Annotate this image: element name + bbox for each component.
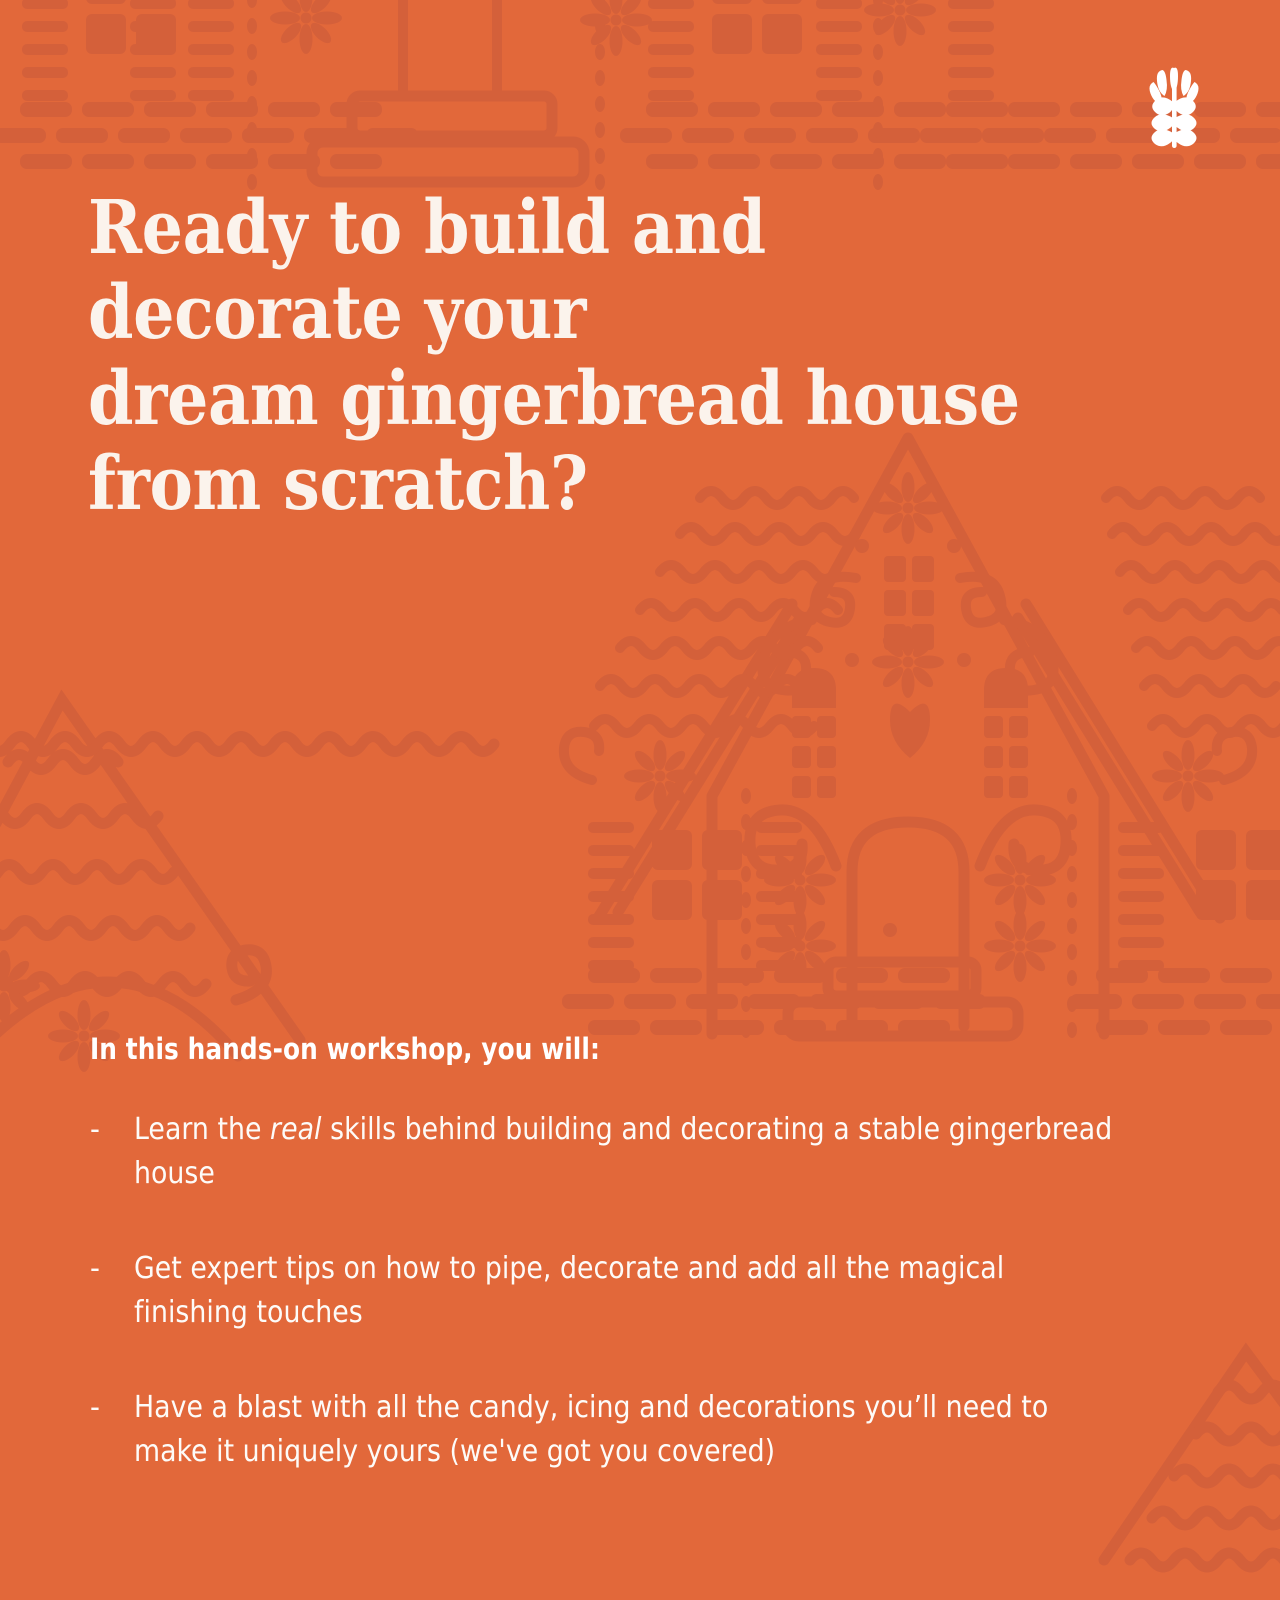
bullet-marker: -: [90, 1247, 134, 1292]
workshop-benefit-list: - Learn the real skills behind building …: [90, 1108, 1150, 1475]
headline-line-3: dream gingerbread house: [88, 357, 915, 442]
headline-line-2: decorate your: [88, 271, 915, 356]
list-item: - Learn the real skills behind building …: [90, 1108, 1150, 1197]
list-item-text: Get expert tips on how to pipe, decorate…: [134, 1247, 1125, 1336]
gingerbread-house-top-band: [0, 0, 1280, 190]
headline-line-1: Ready to build and: [88, 186, 915, 271]
list-item-text: Learn the real skills behind building an…: [134, 1108, 1125, 1197]
bullet-1-emphasis: real: [270, 1112, 321, 1147]
list-item-text: Have a blast with all the candy, icing a…: [134, 1386, 1125, 1475]
list-item: - Have a blast with all the candy, icing…: [90, 1386, 1150, 1475]
list-item: - Get expert tips on how to pipe, decora…: [90, 1247, 1150, 1336]
workshop-subheading: In this hands-on workshop, you will:: [90, 1032, 1097, 1067]
bullet-marker: -: [90, 1386, 134, 1431]
headline-line-4: from scratch?: [88, 442, 915, 527]
page-title: Ready to build and decorate your dream g…: [88, 186, 915, 528]
gingerbread-workshop-poster: { "colors": { "background": "#E2683A", "…: [0, 0, 1280, 1600]
workshop-details: In this hands-on workshop, you will: - L…: [90, 1032, 1150, 1475]
fern-sprig-logo-icon: [1148, 58, 1200, 150]
bullet-1-before: Learn the: [134, 1112, 270, 1147]
bullet-marker: -: [90, 1108, 134, 1153]
